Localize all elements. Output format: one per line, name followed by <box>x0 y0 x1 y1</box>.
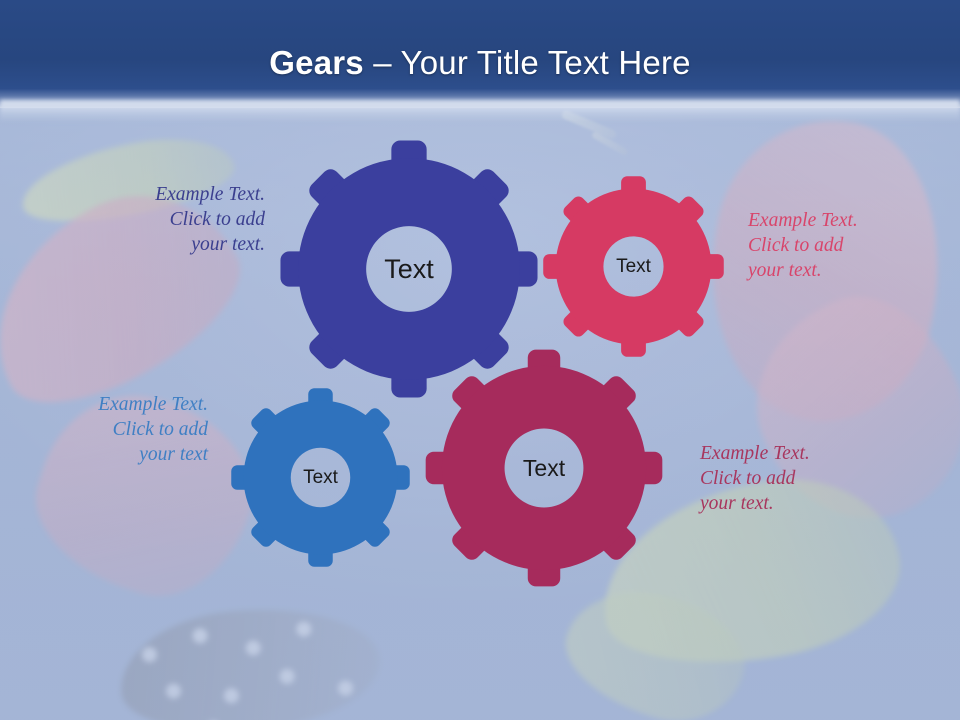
caption-navy[interactable]: Example Text. Click to add your text. <box>95 182 265 257</box>
gear-pink-icon <box>545 178 722 355</box>
gear-pink[interactable]: Text <box>545 178 722 355</box>
page-title-bold: Gears <box>269 44 364 81</box>
caption-blue[interactable]: Example Text. Click to add your text <box>58 392 208 467</box>
title-bar-glow <box>0 100 960 122</box>
caption-maroon[interactable]: Example Text. Click to add your text. <box>700 441 890 516</box>
page-title-rest: – Your Title Text Here <box>364 44 691 81</box>
gear-blue[interactable]: Text <box>233 390 408 565</box>
page-title: Gears – Your Title Text Here <box>0 44 960 82</box>
caption-pink[interactable]: Example Text. Click to add your text. <box>748 208 913 283</box>
gear-maroon[interactable]: Text <box>428 352 660 584</box>
gear-maroon-icon <box>428 352 660 584</box>
gear-blue-icon <box>233 390 408 565</box>
slide-canvas: Gears – Your Title Text Here Text <box>0 0 960 720</box>
